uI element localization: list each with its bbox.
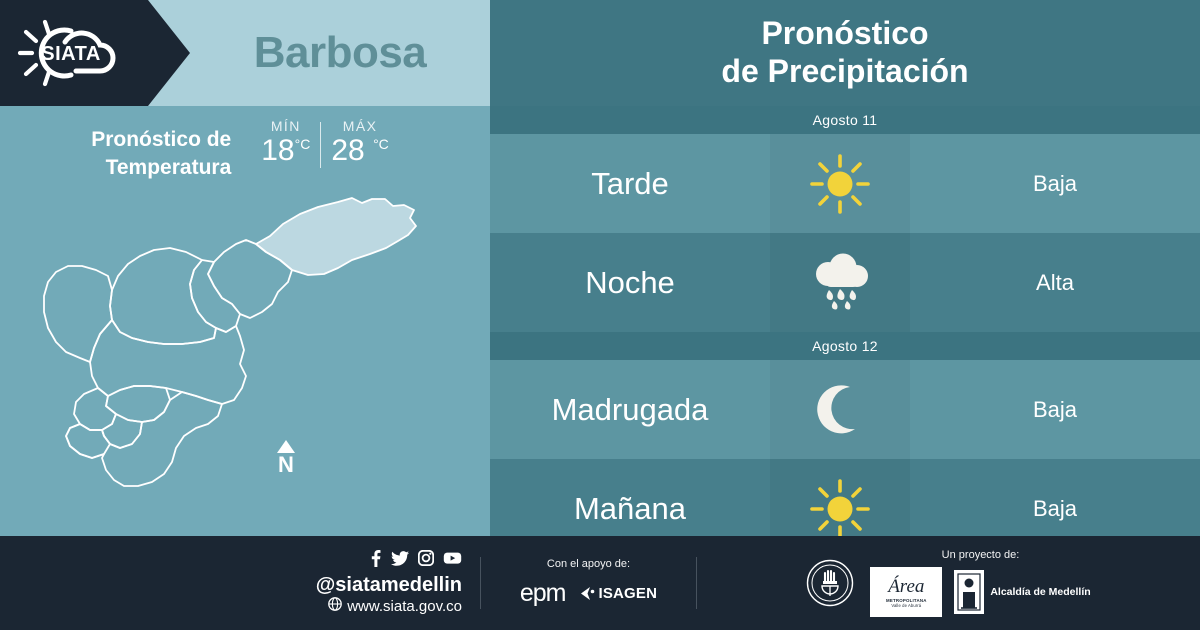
area-metropolitana-logo: Área METROPOLITANA Valle de Aburrá <box>870 567 942 617</box>
project-block: Un proyecto de: Área METROPOLITANA Valle… <box>697 549 1200 617</box>
facebook-icon[interactable] <box>368 550 382 572</box>
alcaldia-logo: Alcaldía de Medellín <box>954 570 1090 614</box>
precipitation-title-line2: de Precipitación <box>721 53 968 91</box>
temperature-min-unit: °C <box>295 136 311 152</box>
compass-label: N <box>277 453 295 476</box>
youtube-icon[interactable] <box>443 551 462 570</box>
forecast-panel: Agosto 11 Tarde <box>490 106 1200 536</box>
temperature-max-unit: °C <box>373 136 389 152</box>
area-logo-sub2: Valle de Aburrá <box>891 603 921 608</box>
website-url: www.siata.gov.co <box>347 598 462 616</box>
temperature-values: MÍN 18°C MÁX 28 °C <box>251 118 399 168</box>
forecast-period: Madrugada <box>490 360 770 459</box>
udem-seal-icon <box>806 559 854 607</box>
forecast-period: Noche <box>490 233 770 332</box>
temperature-max: MÁX 28 °C <box>321 118 398 166</box>
support-block: Con el apoyo de: epm ISAGEN <box>481 558 696 608</box>
city-name: Barbosa <box>190 0 490 106</box>
temperature-max-value: 28 °C <box>331 136 388 166</box>
forecast-period: Tarde <box>490 134 770 233</box>
temperature-max-label: MÁX <box>331 118 388 134</box>
moon-icon <box>770 360 910 459</box>
alcaldia-mark-icon <box>954 570 984 614</box>
map-region-caldas <box>66 348 222 486</box>
rain-cloud-icon <box>770 233 910 332</box>
map-region-barbosa <box>256 198 416 275</box>
map-panel: Pronóstico de Temperatura MÍN 18°C MÁX 2… <box>0 106 490 536</box>
map-region-medellin-west <box>44 266 112 362</box>
map-region-south <box>66 392 222 486</box>
forecast-row[interactable]: Madrugada Baja <box>490 360 1200 459</box>
isagen-logo: ISAGEN <box>579 585 657 602</box>
globe-icon <box>328 597 342 616</box>
forecast-date-2: Agosto 12 <box>490 332 1200 360</box>
temperature-forecast: Pronóstico de Temperatura MÍN 18°C MÁX 2… <box>0 118 490 188</box>
support-logos: epm ISAGEN <box>520 579 657 608</box>
map-region-sabaneta <box>102 414 142 448</box>
temperature-title-line1: Pronóstico de <box>91 126 231 154</box>
area-logo-script: Área <box>888 577 924 596</box>
forecast-probability: Alta <box>910 233 1200 332</box>
project-logos: Área METROPOLITANA Valle de Aburrá <box>870 567 1090 617</box>
precipitation-title: Pronóstico de Precipitación <box>490 0 1200 106</box>
forecast-probability: Baja <box>910 134 1200 233</box>
sun-icon <box>770 134 910 233</box>
alcaldia-label: Alcaldía de Medellín <box>990 586 1090 598</box>
header: SIATA Barbosa Pronóstico de Precipitació… <box>0 0 1200 106</box>
precipitation-title-line1: Pronóstico <box>761 15 928 53</box>
temperature-min-value: 18°C <box>261 136 310 166</box>
instagram-icon[interactable] <box>418 550 434 571</box>
footer: @siatamedellin www.siata.gov.co Con el a… <box>0 536 1200 630</box>
support-caption: Con el apoyo de: <box>547 558 630 570</box>
forecast-probability: Baja <box>910 360 1200 459</box>
temperature-min: MÍN 18°C <box>251 118 320 166</box>
social-block: @siatamedellin www.siata.gov.co <box>0 550 480 617</box>
svg-text:SIATA: SIATA <box>41 43 101 65</box>
temperature-title: Pronóstico de Temperatura <box>91 126 231 181</box>
forecast-row[interactable]: Tarde Baja <box>490 134 1200 233</box>
aburra-valley-map <box>0 186 490 536</box>
temperature-title-line2: Temperatura <box>91 154 231 182</box>
forecast-row[interactable]: Noche Alta <box>490 233 1200 332</box>
infographic-root: SIATA Barbosa Pronóstico de Precipitació… <box>0 0 1200 630</box>
temperature-divider <box>320 122 321 168</box>
project-logos-column: Un proyecto de: Área METROPOLITANA Valle… <box>870 549 1090 617</box>
map-region-bello <box>110 248 216 344</box>
twitter-icon[interactable] <box>391 551 409 571</box>
compass-icon: N <box>277 440 295 476</box>
social-handle[interactable]: @siatamedellin <box>316 574 462 598</box>
project-caption: Un proyecto de: <box>942 549 1020 561</box>
temperature-min-label: MÍN <box>261 118 310 134</box>
social-icons <box>368 550 462 572</box>
website-line[interactable]: www.siata.gov.co <box>328 597 462 616</box>
siata-logo-icon: SIATA <box>14 14 132 92</box>
forecast-date-1: Agosto 11 <box>490 106 1200 134</box>
epm-logo: epm <box>520 579 566 608</box>
isagen-text: ISAGEN <box>598 585 657 602</box>
map-region-copacabana <box>190 260 240 332</box>
